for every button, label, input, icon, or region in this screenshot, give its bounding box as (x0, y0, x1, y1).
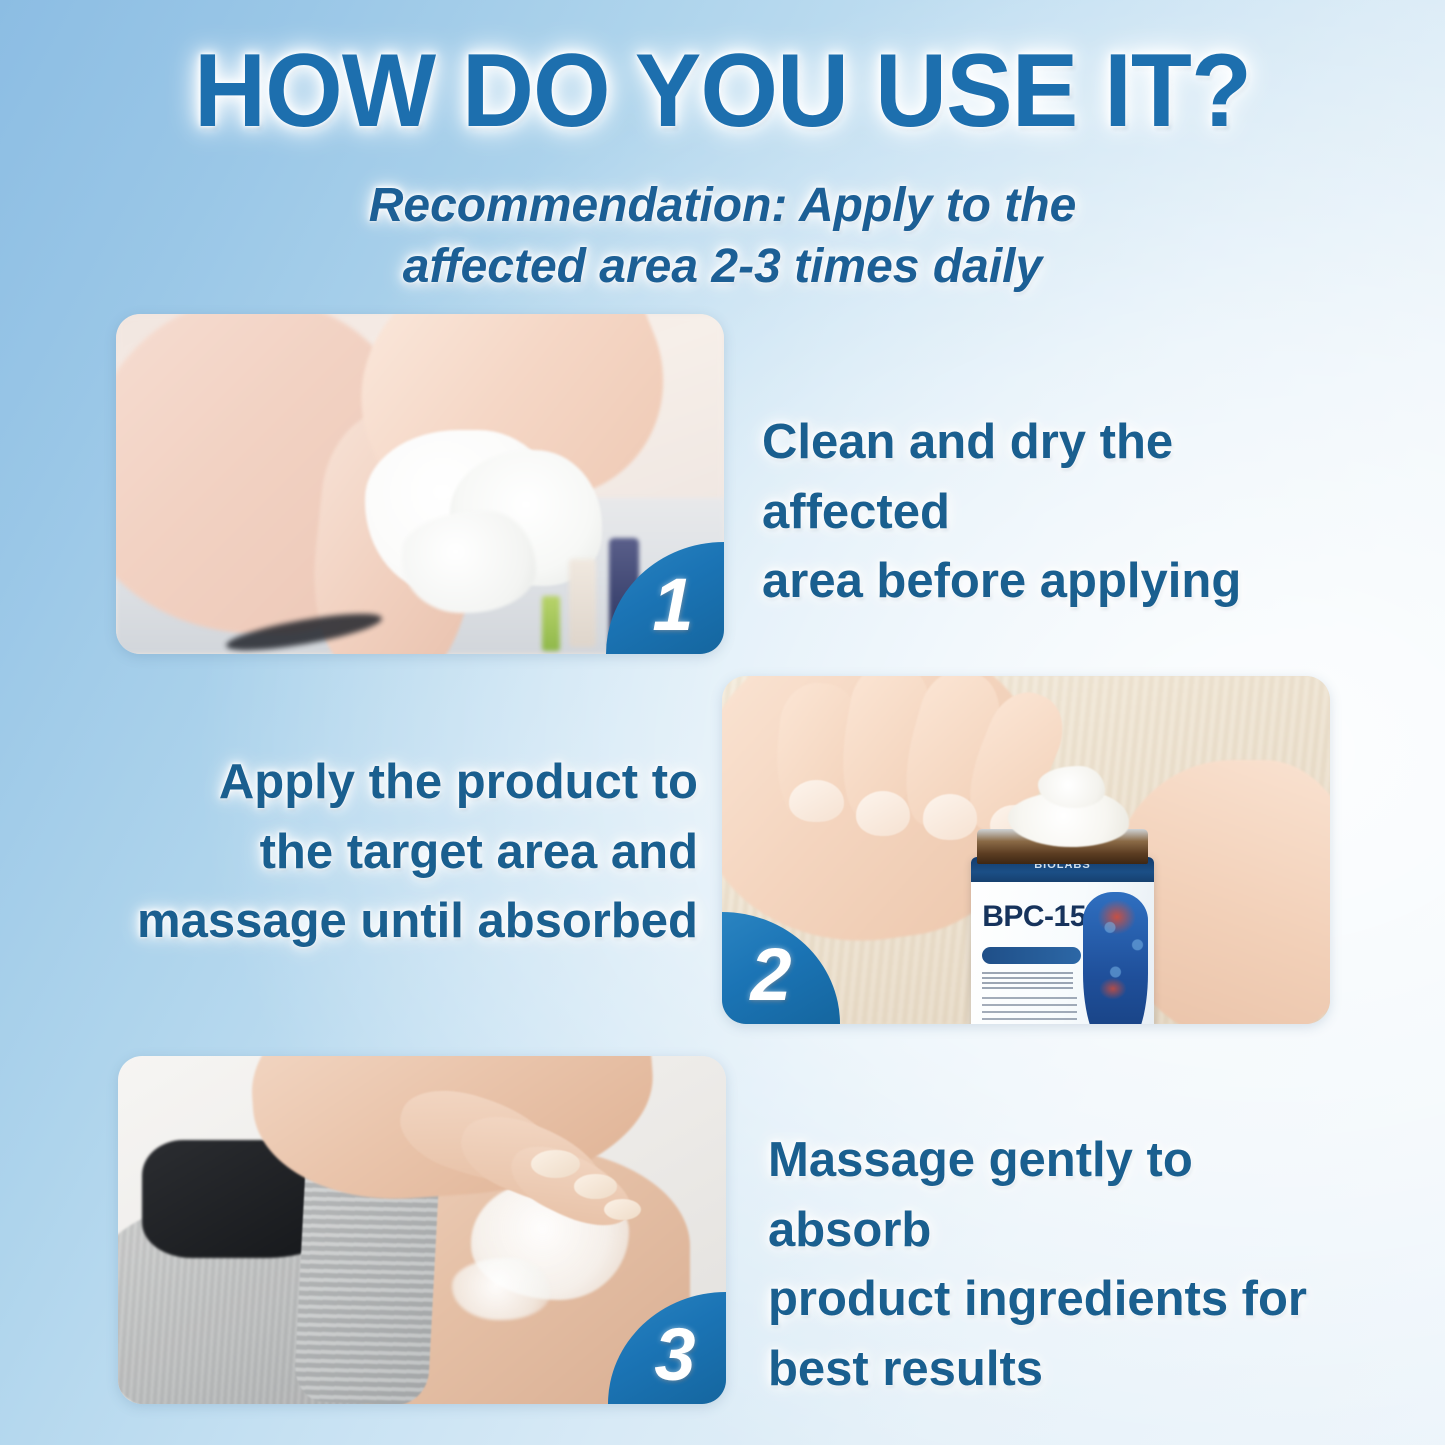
step-2-photo: BIOLABS BPC-157 2 (722, 676, 1330, 1024)
step-2-caption: Apply the product to the target area and… (108, 748, 698, 957)
step-2-caption-line-2: the target area and (108, 818, 698, 888)
jar-molecule-icon (1099, 908, 1154, 1005)
jar-subtitle-bar (982, 947, 1080, 965)
photo3-fingernail-3 (604, 1199, 640, 1220)
step-1-caption-line-1: Clean and dry the affected (762, 408, 1352, 547)
photo1-tube (569, 559, 596, 647)
step-1-caption-line-2: area before applying (762, 547, 1352, 617)
photo1-green-item (542, 596, 560, 650)
photo2-fingernail-3 (923, 794, 978, 839)
step-3-photo: 3 (118, 1056, 726, 1404)
step-number-1: 1 (652, 562, 693, 647)
poster-root: HOW DO YOU USE IT? Recommendation: Apply… (0, 0, 1445, 1445)
jar-description-text (982, 972, 1073, 990)
photo2-fingernail-1 (789, 780, 844, 822)
photo3-fingernail-1 (531, 1150, 580, 1178)
step-2-caption-line-3: massage until absorbed (108, 887, 698, 957)
product-jar: BIOLABS BPC-157 (971, 857, 1153, 1024)
step-number-3: 3 (654, 1312, 695, 1397)
photo2-fingernail-2 (856, 791, 911, 836)
step-2-caption-line-1: Apply the product to (108, 748, 698, 818)
step-1-photo: 1 (116, 314, 724, 654)
step-3-caption: Massage gently to absorb product ingredi… (768, 1126, 1353, 1404)
step-1-caption: Clean and dry the affected area before a… (762, 408, 1352, 617)
page-title: HOW DO YOU USE IT? (29, 36, 1416, 146)
subtitle-line-1: Recommendation: Apply to the (0, 175, 1445, 236)
photo3-fingernail-2 (574, 1174, 617, 1198)
step-number-2: 2 (750, 932, 791, 1017)
step-3-caption-line-3: best results (768, 1335, 1353, 1405)
step-3-caption-line-1: Massage gently to absorb (768, 1126, 1353, 1265)
photo1-foam-lower (402, 511, 536, 613)
subtitle-line-2: affected area 2-3 times daily (0, 236, 1445, 297)
jar-benefit-bullets (982, 997, 1077, 1024)
photo3-cream-smear (452, 1258, 549, 1321)
recommendation-subtitle: Recommendation: Apply to the affected ar… (0, 175, 1445, 298)
step-3-caption-line-2: product ingredients for (768, 1265, 1353, 1335)
